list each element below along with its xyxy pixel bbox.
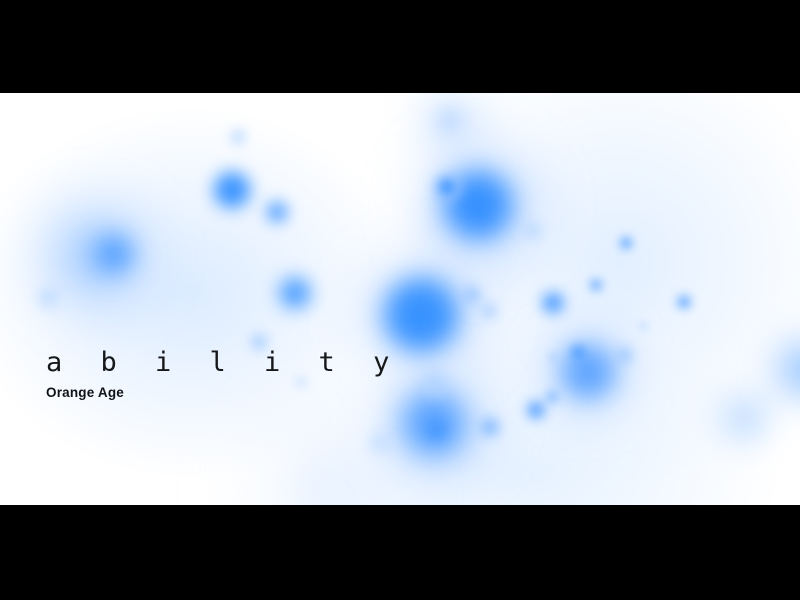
bokeh-top-pale-halo [394, 93, 510, 180]
bokeh-top-side-dot [523, 221, 543, 241]
bokeh-right-blob-side [616, 346, 634, 364]
bokeh-low-left-dot [368, 431, 392, 455]
background-wash-left [0, 93, 500, 505]
photo-canvas [0, 93, 800, 505]
page-title: a b i l i t y [46, 348, 400, 378]
bokeh-left-mini [36, 286, 60, 310]
bokeh-low-far-dot-a [525, 399, 547, 421]
bokeh-right-blob-left [549, 353, 557, 361]
title-block: a b i l i t y Orange Age [46, 348, 400, 401]
bokeh-upper-left-dot [229, 128, 247, 146]
bokeh-far-right-soft [711, 384, 779, 452]
bokeh-right-blob-core [554, 338, 622, 406]
bokeh-low-right-dot [478, 415, 502, 439]
bokeh-upper-left-ring [210, 168, 254, 212]
bokeh-top-pale-core [435, 106, 463, 134]
background-wash-center [300, 93, 800, 505]
bokeh-right-blob-halo [526, 309, 650, 433]
bokeh-top-big-core [436, 163, 520, 247]
bokeh-top-ring-inner [438, 178, 456, 196]
bokeh-mid-left-circle [275, 273, 315, 313]
bokeh-top-ring-outer [429, 169, 465, 205]
bokeh-low-far-dot-b [545, 390, 559, 404]
bokeh-top-big-halo [394, 123, 562, 291]
bokeh-edge-right-blob [766, 330, 800, 410]
letterbox-bar-bottom [0, 505, 800, 600]
page-subtitle: Orange Age [46, 385, 400, 401]
bokeh-right-dot-d [676, 294, 692, 310]
bokeh-center-r-dot-a [461, 284, 483, 306]
bokeh-right-tiny [639, 322, 647, 330]
bokeh-low-center-core [391, 382, 475, 466]
bokeh-right-blob-spot [570, 344, 586, 360]
bokeh-low-ring [418, 367, 452, 401]
bokeh-center-r-dot-b [480, 302, 498, 320]
title-card-image: a b i l i t y Orange Age [0, 0, 800, 600]
bokeh-right-dot-c [619, 236, 633, 250]
letterbox-bar-top [0, 0, 800, 93]
bokeh-left-large-soft [17, 178, 173, 334]
bokeh-center-core [377, 271, 465, 359]
bokeh-right-dot-b [589, 278, 603, 292]
bokeh-upper-left-small [263, 198, 291, 226]
bokeh-left-core [88, 228, 140, 280]
bokeh-low-center-spot [425, 419, 449, 443]
bokeh-right-dot-a [540, 290, 566, 316]
